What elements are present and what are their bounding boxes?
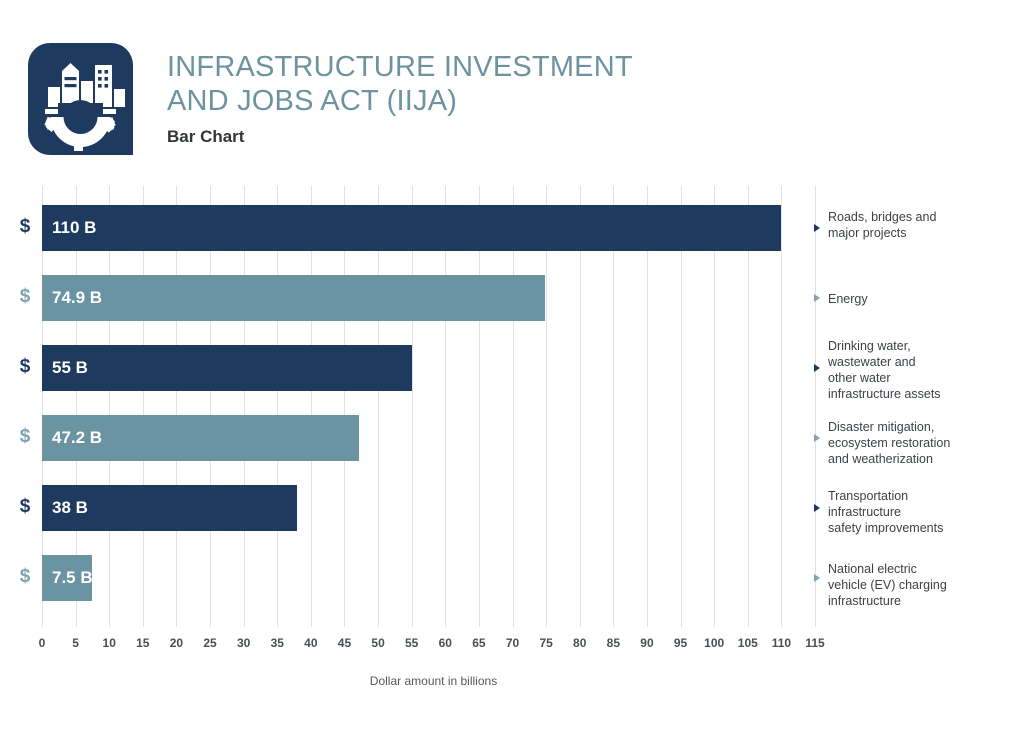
x-axis-caption: Dollar amount in billions: [0, 674, 867, 688]
x-tick-label: 35: [271, 636, 284, 650]
bar-value-label: 55 B: [42, 358, 88, 378]
x-tick-label: 95: [674, 636, 687, 650]
x-tick-label: 0: [39, 636, 46, 650]
category-marker-icon: [814, 294, 820, 302]
x-tick-label: 60: [439, 636, 452, 650]
category-marker-icon: [814, 574, 820, 582]
currency-symbol: $: [8, 496, 42, 518]
x-tick-label: 40: [304, 636, 317, 650]
bar-row: 110 B: [42, 205, 815, 251]
bar-value-label: 47.2 B: [42, 428, 102, 448]
x-tick-label: 55: [405, 636, 418, 650]
currency-symbol: $: [8, 566, 42, 588]
category-marker-icon: [814, 504, 820, 512]
x-tick-label: 80: [573, 636, 586, 650]
x-tick-label: 115: [805, 636, 824, 650]
plot-area: 110 B74.9 B55 B47.2 B38 B7.5 B: [42, 186, 815, 627]
bar-chart: 110 B74.9 B55 B47.2 B38 B7.5 B 051015202…: [0, 0, 1024, 732]
chart-page: INFRASTRUCTURE INVESTMENT AND JOBS ACT (…: [0, 0, 1024, 732]
x-tick-label: 25: [203, 636, 216, 650]
category-marker-icon: [814, 364, 820, 372]
currency-symbol: $: [8, 216, 42, 238]
bar-row: 7.5 B: [42, 555, 815, 601]
x-axis: 0510152025303540455055606570758085909510…: [42, 636, 815, 656]
x-tick-label: 50: [371, 636, 384, 650]
category-label: Disaster mitigation, ecosystem restorati…: [828, 419, 1013, 467]
bar-row: 38 B: [42, 485, 815, 531]
bar-value-label: 110 B: [42, 218, 96, 238]
x-tick-label: 45: [338, 636, 351, 650]
currency-symbol: $: [8, 356, 42, 378]
category-label: Transportation infrastructure safety imp…: [828, 488, 1013, 536]
x-tick-label: 100: [704, 636, 724, 650]
x-tick-label: 20: [170, 636, 183, 650]
x-tick-label: 65: [472, 636, 485, 650]
x-tick-label: 70: [506, 636, 519, 650]
bar-value-label: 74.9 B: [42, 288, 102, 308]
category-marker-icon: [814, 224, 820, 232]
category-label: Energy: [828, 291, 1013, 307]
x-tick-label: 10: [103, 636, 116, 650]
x-tick-label: 5: [72, 636, 79, 650]
gridline: [815, 186, 816, 627]
bar-row: 74.9 B: [42, 275, 815, 321]
bar-value-label: 7.5 B: [42, 568, 93, 588]
bar[interactable]: 110 B: [42, 205, 781, 251]
x-tick-label: 105: [738, 636, 758, 650]
currency-symbol: $: [8, 426, 42, 448]
currency-symbol: $: [8, 286, 42, 308]
bar[interactable]: 74.9 B: [42, 275, 545, 321]
bar-row: 47.2 B: [42, 415, 815, 461]
category-label: Roads, bridges and major projects: [828, 209, 1013, 241]
category-label: National electric vehicle (EV) charging …: [828, 561, 1013, 609]
x-tick-label: 75: [539, 636, 552, 650]
bar[interactable]: 55 B: [42, 345, 412, 391]
x-tick-label: 15: [136, 636, 149, 650]
category-label: Drinking water, wastewater and other wat…: [828, 338, 1013, 402]
x-tick-label: 30: [237, 636, 250, 650]
bar-row: 55 B: [42, 345, 815, 391]
bar[interactable]: 47.2 B: [42, 415, 359, 461]
x-tick-label: 110: [772, 636, 791, 650]
x-tick-label: 85: [607, 636, 620, 650]
bar[interactable]: 7.5 B: [42, 555, 92, 601]
bar[interactable]: 38 B: [42, 485, 297, 531]
x-tick-label: 90: [640, 636, 653, 650]
category-marker-icon: [814, 434, 820, 442]
bar-value-label: 38 B: [42, 498, 88, 518]
